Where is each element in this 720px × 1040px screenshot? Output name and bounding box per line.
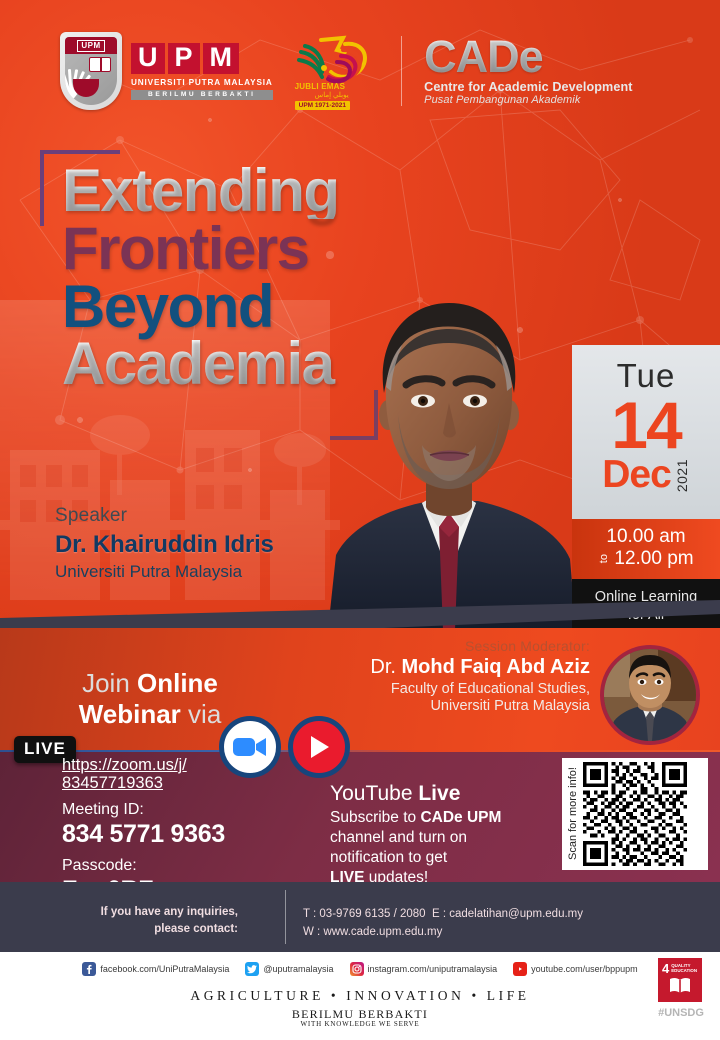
crest-upm-label: UPM: [77, 40, 104, 52]
motto-english: WITH KNOWLEDGE WE SERVE: [0, 1020, 720, 1028]
speaker-info: Speaker Dr. Khairuddin Idris Universiti …: [55, 505, 355, 582]
meeting-id-value: 834 5771 9363: [62, 820, 312, 849]
sdg-number: 4: [662, 962, 669, 975]
speaker-portrait: [318, 275, 580, 630]
sdg-badge: 4 QUALITY EDUCATION: [658, 958, 702, 1002]
contact-divider: [285, 890, 286, 944]
youtube-icon: [513, 962, 527, 976]
jubli-arabic-label: يوبلي إماس: [315, 91, 349, 99]
instagram-handle: instagram.com/uniputramalaysia: [368, 964, 498, 974]
contact-email[interactable]: E : cadelatihan@upm.edu.my: [432, 908, 583, 920]
contact-website[interactable]: W : www.cade.upm.edu.my: [303, 924, 583, 942]
contact-prompt-line-2: please contact:: [60, 921, 238, 938]
join-post: via: [181, 699, 221, 729]
contact-prompt: If you have any inquiries, please contac…: [60, 904, 238, 937]
social-links: facebook.com/UniPutraMalaysia @uputramal…: [0, 962, 720, 976]
upm-crest-icon: UPM: [60, 32, 122, 110]
unsdg-hashtag: #UNSDG: [650, 1007, 712, 1019]
upm-tagline: AGRICULTURE • INNOVATION • LIFE: [0, 988, 720, 1004]
title-line-1: Extending: [62, 163, 482, 219]
jubli-emas-logo: JUBLI EMAS يوبلي إماس UPM 1971-2021: [291, 32, 377, 110]
upm-letter-u: U: [131, 43, 165, 74]
twitter-handle: @uputramalaysia: [263, 964, 333, 974]
moderator-affiliation-2: Universiti Putra Malaysia: [300, 698, 590, 715]
youtube-body-1-pre: Subscribe to: [330, 809, 420, 826]
date-year: 2021: [674, 459, 690, 492]
facebook-icon: [82, 962, 96, 976]
qr-code-box[interactable]: Scan for more info!: [562, 758, 708, 870]
title-line-2: Frontiers: [62, 221, 482, 277]
cade-logo: CADe Centre for Academic Development Pus…: [424, 36, 632, 106]
upm-full-name: UNIVERSITI PUTRA MALAYSIA: [131, 78, 273, 87]
time-start: 10.00 am: [580, 526, 712, 548]
instagram-icon: [350, 962, 364, 976]
time-connector: to: [598, 554, 610, 563]
moderator-affiliation-1: Faculty of Educational Studies,: [300, 681, 590, 698]
twitter-icon: [245, 962, 259, 976]
speaker-affiliation: Universiti Putra Malaysia: [55, 562, 355, 582]
youtube-details: YouTube Live Subscribe to CADe UPM chann…: [330, 782, 560, 887]
event-date-card: Tue 14 Dec 2021 10.00 am to 12.00 pm Onl…: [572, 345, 720, 635]
upm-wordmark: U P M UNIVERSITI PUTRA MALAYSIA BERILMU …: [131, 43, 273, 100]
time-end: 12.00 pm: [614, 548, 693, 570]
social-item-instagram[interactable]: instagram.com/uniputramalaysia: [350, 962, 498, 976]
youtube-body-3: notification to get: [330, 848, 560, 868]
upm-letter-p: P: [168, 43, 200, 74]
upm-motto-block: BERILMU BERBAKTI WITH KNOWLEDGE WE SERVE: [0, 1007, 720, 1028]
sdg-book-icon: [668, 976, 692, 995]
join-online: Online: [137, 668, 218, 698]
upm-letter-m: M: [203, 43, 240, 74]
date-day-number: 14: [582, 394, 710, 457]
header-divider: [401, 36, 403, 106]
speaker-name: Dr. Khairuddin Idris: [55, 531, 355, 559]
facebook-handle: facebook.com/UniPutraMalaysia: [100, 964, 229, 974]
header-logo-row: UPM U P M UNIVERSITI PUTRA MALAYSIA BERI…: [60, 32, 633, 110]
zoom-url-line-2: 83457719363: [62, 774, 312, 792]
youtube-heading-live: Live: [418, 782, 460, 805]
qr-code-icon: [583, 762, 687, 866]
upm-motto: BERILMU BERBAKTI: [131, 90, 273, 100]
qr-caption: Scan for more info!: [566, 762, 580, 866]
zoom-video-icon[interactable]: [219, 716, 281, 778]
jubli-years: UPM 1971-2021: [295, 101, 350, 110]
moderator-info: Session Moderator: Dr. Mohd Faiq Abd Azi…: [300, 638, 590, 716]
social-item-facebook[interactable]: facebook.com/UniPutraMalaysia: [82, 962, 229, 976]
moderator-avatar: [600, 645, 700, 745]
youtube-channel: CADe UPM: [420, 809, 501, 826]
youtube-play-icon[interactable]: [288, 716, 350, 778]
passcode-label: Passcode:: [62, 857, 312, 875]
moderator-title: Dr.: [370, 656, 396, 678]
cade-subtitle-en: Centre for Academic Development: [424, 80, 632, 94]
contact-phone: T : 03-9769 6135 / 2080: [303, 908, 426, 920]
meeting-id-label: Meeting ID:: [62, 801, 312, 819]
moderator-name: Mohd Faiq Abd Aziz: [402, 656, 591, 678]
youtube-body-2: channel and turn on: [330, 828, 560, 848]
contact-details: T : 03-9769 6135 / 2080 E : cadelatihan@…: [303, 906, 583, 942]
youtube-handle: youtube.com/user/bppupm: [531, 964, 638, 974]
jubli-label: JUBLI EMAS: [295, 82, 345, 91]
join-webinar: Webinar: [79, 699, 181, 729]
cade-name: CADe: [424, 36, 632, 79]
contact-prompt-line-1: If you have any inquiries,: [60, 904, 238, 921]
social-item-twitter[interactable]: @uputramalaysia: [245, 962, 333, 976]
cade-subtitle-my: Pusat Pembangunan Akademik: [424, 94, 632, 106]
moderator-label: Session Moderator:: [300, 638, 590, 654]
section-hairline: [0, 750, 720, 752]
join-pre: Join: [82, 668, 137, 698]
speaker-label: Speaker: [55, 505, 355, 527]
social-item-youtube[interactable]: youtube.com/user/bppupm: [513, 962, 638, 976]
event-poster: UPM U P M UNIVERSITI PUTRA MALAYSIA BERI…: [0, 0, 720, 1040]
youtube-heading-pre: YouTube: [330, 782, 418, 805]
event-time-block: 10.00 am to 12.00 pm: [572, 519, 720, 579]
date-month: Dec: [602, 455, 671, 494]
